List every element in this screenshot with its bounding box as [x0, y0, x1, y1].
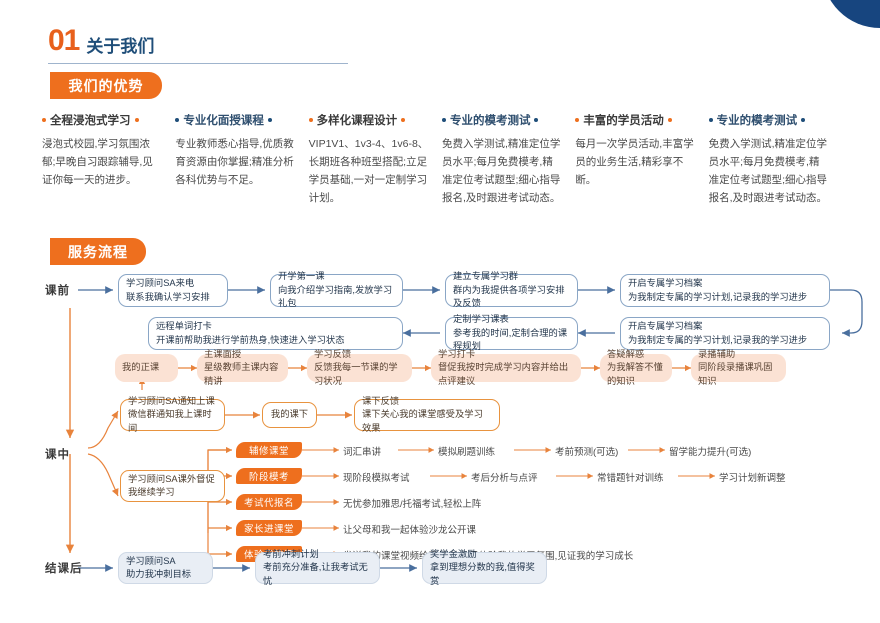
flow-node-during: 学习顾问SA课外督促 我继续学习: [120, 470, 225, 502]
flow-node: 定制学习课表 参考我的时间,定制合理的课程规划: [445, 317, 578, 350]
advantage-title-row: 全程浸泡式学习: [42, 112, 174, 128]
advantage-card: 丰富的学员活动 每月一次学员活动,丰富学员的业务生活,精彩享不断。: [575, 112, 707, 207]
advantage-title: 专业的模考测试: [450, 112, 531, 128]
bullet-dot-icon: [442, 118, 446, 122]
stage-label-during: 课中: [45, 446, 70, 462]
flow-node-line1: 开学第一课: [278, 270, 395, 283]
advantage-body: 专业教师悉心指导,优质教育资源由你掌握;精准分析各科优势与不足。: [175, 135, 295, 189]
flow-node-line2: 联系我确认学习安排: [126, 291, 220, 304]
advantage-title: 专业化面授课程: [183, 112, 264, 128]
advantage-card: 专业的模考测试 免费入学测试,精准定位学员水平;每月免费模考,精准定位考试题型;…: [442, 112, 574, 207]
advantage-body: VIP1V1、1v3-4、1v6-8、长期班各种班型搭配;立足学员基础,一对一定…: [309, 135, 429, 207]
pill-step: 无忧参加雅思/托福考试,轻松上阵: [343, 496, 481, 510]
flow-node-line2: 为我制定专属的学习计划,记录我的学习进步: [628, 291, 822, 304]
bullet-dot-icon: [668, 118, 672, 122]
flow-node-during: 学习顾问SA通知上课 微信群通知我上课时间: [120, 399, 225, 431]
pill-label-tutoring[interactable]: 辅修课堂: [236, 442, 302, 458]
pill-step: 常错题针对训练: [597, 470, 664, 484]
flow-node-line2: 考前充分准备,让我考试无忧: [263, 561, 372, 588]
pill-step: 学习计划新调整: [719, 470, 786, 484]
advantage-body: 免费入学测试,精准定位学员水平;每月免费模考,精准定位考试题型;细心指导报名,及…: [709, 135, 829, 207]
flow-node-line1: 我的课下: [271, 408, 308, 421]
flow-node-during: 课下反馈 课下关心我的课堂感受及学习效果: [354, 399, 500, 431]
pill-step: 现阶段模拟考试: [343, 470, 410, 484]
flow-node-line1: 开启专属学习档案: [628, 277, 822, 290]
pill-step: 词汇串讲: [343, 444, 381, 458]
flow-node-line2: 微信群通知我上课时间: [128, 408, 217, 435]
advantage-title-row: 专业化面授课程: [175, 112, 307, 128]
flow-node-line2: 开课前帮助我进行学前热身,快速进入学习状态: [156, 334, 395, 347]
ribbon-advantage: 我们的优势: [50, 72, 162, 99]
flow-node-during: 我的课下: [262, 402, 317, 428]
pill-step: 考后分析与点评: [471, 470, 538, 484]
flow-node-line1: 学习顾问SA: [126, 555, 205, 568]
bullet-dot-icon: [534, 118, 538, 122]
flow-node-line1: 学习顾问SA通知上课: [128, 395, 217, 408]
advantage-title: 全程浸泡式学习: [50, 112, 131, 128]
flow-node-line1: 学习顾问SA课外督促: [128, 473, 217, 486]
flow-node-line1: 开启专属学习档案: [628, 320, 822, 333]
flow-node-line2: 我继续学习: [128, 486, 217, 499]
flow-node-line1: 奖学金激励: [430, 548, 539, 561]
flow-node-line1: 学习打卡: [438, 348, 574, 361]
flow-node-line2: 拿到理想分数的我,值得奖赏: [430, 561, 539, 588]
section-title: 关于我们: [86, 38, 154, 56]
stage-label-before: 课前: [45, 282, 70, 298]
flow-node-peach: 学习反馈 反馈我每一节课的学习状况: [307, 354, 412, 382]
flow-node-peach: 我的正课: [115, 354, 178, 382]
advantage-title-row: 专业的模考测试: [709, 112, 841, 128]
advantage-title: 专业的模考测试: [717, 112, 798, 128]
bullet-dot-icon: [175, 118, 179, 122]
flow-node-line2: 课下关心我的课堂感受及学习效果: [362, 408, 492, 435]
advantage-card: 专业化面授课程 专业教师悉心指导,优质教育资源由你掌握;精准分析各科优势与不足。: [175, 112, 307, 207]
bullet-dot-icon: [135, 118, 139, 122]
flow-node-line2: 为我解答不懂的知识: [607, 361, 665, 388]
flow-node-line1: 答疑解惑: [607, 348, 665, 361]
stage-label-after: 结课后: [45, 560, 83, 576]
flow-node-line1: 课下反馈: [362, 395, 492, 408]
flow-node: 学习顾问SA来电 联系我确认学习安排: [118, 274, 228, 307]
flow-node-peach: 录播辅助 同阶段录播课巩固知识: [691, 354, 786, 382]
bullet-dot-icon: [268, 118, 272, 122]
advantage-title-row: 丰富的学员活动: [575, 112, 707, 128]
flow-node-line2: 星级教师主课内容精讲: [204, 361, 281, 388]
header-divider: [48, 63, 348, 64]
flow-node-peach: 答疑解惑 为我解答不懂的知识: [600, 354, 672, 382]
advantage-title-row: 专业的模考测试: [442, 112, 574, 128]
corner-decoration: [822, 0, 880, 28]
bullet-dot-icon: [309, 118, 313, 122]
ribbon-process: 服务流程: [50, 238, 146, 265]
flow-node: 建立专属学习群 群内为我提供各项学习安排及反馈: [445, 274, 578, 307]
flow-node-after: 奖学金激励 拿到理想分数的我,值得奖赏: [422, 552, 547, 584]
flow-node-line2: 向我介绍学习指南,发放学习礼包: [278, 284, 395, 311]
flow-node-peach: 主课面授 星级教师主课内容精讲: [197, 354, 288, 382]
advantage-title: 丰富的学员活动: [583, 112, 664, 128]
section-number: 01: [48, 26, 79, 56]
bullet-dot-icon: [42, 118, 46, 122]
pill-step: 模拟刷题训练: [438, 444, 495, 458]
flow-node-line1: 主课面授: [204, 348, 281, 361]
flow-node-line2: 助力我冲刺目标: [126, 568, 205, 581]
service-process-diagram: 课前 课中 结课后 学习顾问SA来电 联系我确认学习安排 开学第一课 向我介绍学…: [0, 268, 880, 618]
bullet-dot-icon: [801, 118, 805, 122]
flow-node-line2: 为我制定专属的学习计划,记录我的学习进步: [628, 334, 822, 347]
advantage-card: 全程浸泡式学习 浸泡式校园,学习氛围浓郁;早晚自习跟踪辅导,见证你每一天的进步。: [42, 112, 174, 207]
bullet-dot-icon: [575, 118, 579, 122]
flow-node-line2: 反馈我每一节课的学习状况: [314, 361, 405, 388]
advantage-card: 多样化课程设计 VIP1V1、1v3-4、1v6-8、长期班各种班型搭配;立足学…: [309, 112, 441, 207]
advantages-list: 全程浸泡式学习 浸泡式校园,学习氛围浓郁;早晚自习跟踪辅导,见证你每一天的进步。…: [42, 112, 842, 207]
bullet-dot-icon: [401, 118, 405, 122]
pill-label-parent-class[interactable]: 家长进课堂: [236, 520, 302, 536]
flow-node: 开启专属学习档案 为我制定专属的学习计划,记录我的学习进步: [620, 274, 830, 307]
advantage-body: 免费入学测试,精准定位学员水平;每月免费模考,精准定位考试题型;细心指导报名,及…: [442, 135, 562, 207]
flow-node-after: 考前冲刺计划 考前充分准备,让我考试无忧: [255, 552, 380, 584]
flow-node-line1: 定制学习课表: [453, 313, 570, 326]
flow-node: 开启专属学习档案 为我制定专属的学习计划,记录我的学习进步: [620, 317, 830, 350]
advantage-card: 专业的模考测试 免费入学测试,精准定位学员水平;每月免费模考,精准定位考试题型;…: [709, 112, 841, 207]
flow-node-line1: 考前冲刺计划: [263, 548, 372, 561]
flow-node-peach: 学习打卡 督促我按时完成学习内容并给出点评建议: [431, 354, 581, 382]
flow-node-line2: 督促我按时完成学习内容并给出点评建议: [438, 361, 574, 388]
flow-node-line1: 录播辅助: [698, 348, 779, 361]
flow-node: 远程单词打卡 开课前帮助我进行学前热身,快速进入学习状态: [148, 317, 403, 350]
bullet-dot-icon: [709, 118, 713, 122]
advantage-title-row: 多样化课程设计: [309, 112, 441, 128]
page-title: 01 关于我们: [48, 26, 154, 56]
pill-label-exam-registration[interactable]: 考试代报名: [236, 494, 302, 510]
flow-node-line1: 学习顾问SA来电: [126, 277, 220, 290]
flow-node-line1: 建立专属学习群: [453, 270, 570, 283]
advantage-body: 每月一次学员活动,丰富学员的业务生活,精彩享不断。: [575, 135, 695, 189]
flow-node-line1: 远程单词打卡: [156, 320, 395, 333]
advantage-body: 浸泡式校园,学习氛围浓郁;早晚自习跟踪辅导,见证你每一天的进步。: [42, 135, 162, 189]
flow-node-line2: 群内为我提供各项学习安排及反馈: [453, 284, 570, 311]
pill-step: 留学能力提升(可选): [669, 444, 751, 458]
flow-node-line1: 我的正课: [122, 361, 159, 374]
pill-step: 让父母和我一起体验沙龙公开课: [343, 522, 476, 536]
pill-label-mock-exam[interactable]: 阶段模考: [236, 468, 302, 484]
flow-node: 开学第一课 向我介绍学习指南,发放学习礼包: [270, 274, 403, 307]
advantage-title: 多样化课程设计: [317, 112, 398, 128]
flow-node-line1: 学习反馈: [314, 348, 405, 361]
flow-node-after: 学习顾问SA 助力我冲刺目标: [118, 552, 213, 584]
flow-node-line2: 同阶段录播课巩固知识: [698, 361, 779, 388]
pill-step: 考前预测(可选): [555, 444, 618, 458]
